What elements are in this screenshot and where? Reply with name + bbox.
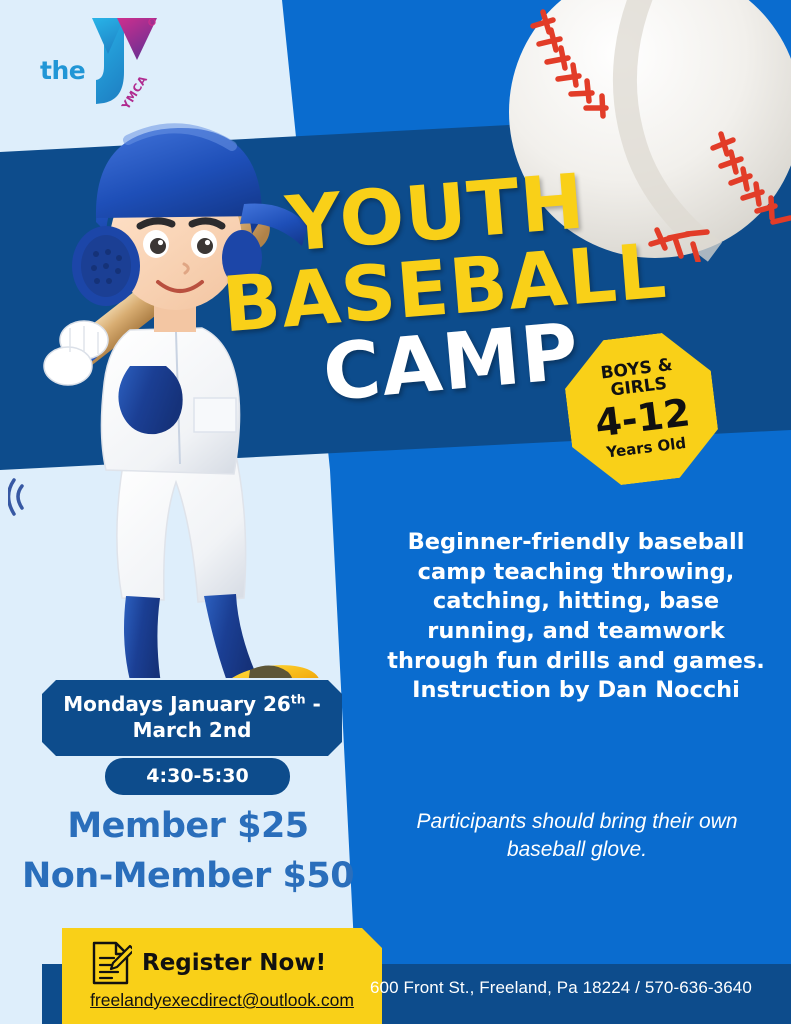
schedule-dates-line2: March 2nd (133, 718, 252, 742)
flyer-canvas: R the YMCA (0, 0, 791, 1024)
register-now-label: Register Now! (142, 950, 326, 976)
camp-description: Beginner-friendly baseball camp teaching… (378, 528, 774, 706)
address-line: 600 Front St., Freeland, Pa 18224 / 570-… (370, 978, 752, 998)
equipment-note: Participants should bring their own base… (386, 808, 768, 864)
schedule-dates-prefix: Mondays January 26 (63, 692, 291, 716)
schedule-dates-ordinal: th (291, 691, 306, 706)
schedule-dates-badge: Mondays January 26th - March 2nd (42, 680, 342, 756)
price-non-member: Non-Member $50 (8, 856, 368, 896)
logo-the-text: the (40, 56, 85, 85)
register-email-link[interactable]: freelandyexecdirect@outlook.com (62, 990, 382, 1011)
price-member: Member $25 (8, 806, 368, 846)
register-box[interactable]: Register Now! freelandyexecdirect@outloo… (62, 928, 382, 1024)
document-pen-icon (90, 940, 132, 986)
svg-text:R: R (149, 20, 152, 25)
ymca-logo: R the YMCA (38, 8, 198, 118)
schedule-time-badge: 4:30-5:30 (105, 758, 290, 795)
register-row: Register Now! (90, 940, 382, 986)
schedule-dates-suffix: - (306, 692, 321, 716)
background-bottom-left-strip (0, 964, 42, 1024)
